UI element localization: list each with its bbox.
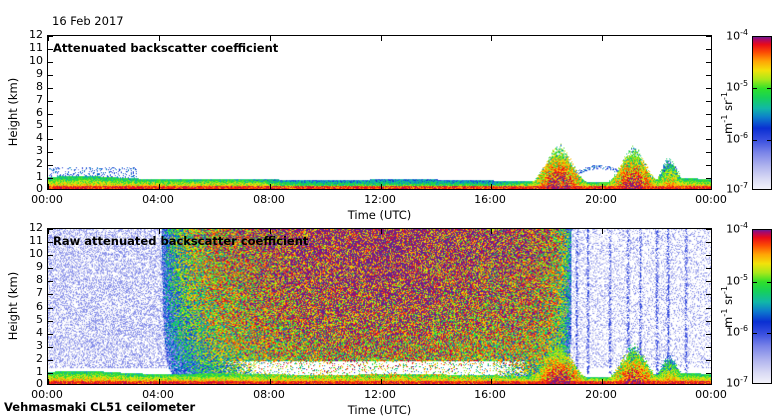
y-tick-label: 12 [21,28,43,41]
colorbar-tick [767,282,771,283]
y-tick-right [706,321,711,322]
x-tick-top [159,229,160,234]
colorbar-tick-label: 10-7 [714,181,748,196]
y-tick [48,347,53,348]
x-tick-top [159,36,160,41]
x-tick [48,379,49,384]
date-title: 16 Feb 2017 [52,14,124,28]
y-tick-right [706,294,711,295]
x-tick-label: 12:00 [350,193,410,206]
x-tick-label: 08:00 [239,193,299,206]
y-tick-label: 10 [21,247,43,260]
y-tick-right [706,178,711,179]
x-axis-title-panel1: Time (UTC) [280,208,480,222]
colorbar-tick-label: 10-4 [714,221,748,236]
y-tick-right [706,229,711,230]
y-tick-right [706,281,711,282]
x-tick-label: 16:00 [460,388,520,401]
colorbar-tick-label: 10-5 [714,79,748,94]
y-tick [48,281,53,282]
colorbar-tick [767,88,771,89]
x-tick [381,379,382,384]
x-tick [491,379,492,384]
y-tick [48,139,53,140]
colorbar-tick-label: 10-7 [714,375,748,390]
colorbar-tick-label: 10-4 [714,28,748,43]
x-tick-label: 20:00 [571,388,631,401]
y-tick [48,165,53,166]
y-tick [48,88,53,89]
y-tick [48,62,53,63]
x-tick-label: 16:00 [460,193,520,206]
y-tick-right [706,88,711,89]
y-tick-label: 7 [21,93,43,106]
x-tick-top [602,229,603,234]
x-tick-top [381,229,382,234]
y-tick-right [706,126,711,127]
x-tick [159,184,160,189]
x-tick-top [381,36,382,41]
panel-raw-backscatter [47,228,712,385]
y-tick-label: 1 [21,170,43,183]
y-tick-label: 5 [21,313,43,326]
y-tick-right [706,242,711,243]
y-tick-right [706,101,711,102]
y-tick-label: 2 [21,352,43,365]
y-tick [48,294,53,295]
y-tick [48,114,53,115]
y-tick [48,242,53,243]
y-tick-right [706,49,711,50]
x-tick-label: 00:00 [17,193,77,206]
y-tick-label: 11 [21,234,43,247]
y-tick-right [706,165,711,166]
y-tick-label: 3 [21,144,43,157]
y-tick-right [706,114,711,115]
attenuated-backscatter-heatmap [48,36,711,189]
y-tick-right [706,373,711,374]
y-tick-label: 2 [21,157,43,170]
x-tick-label: 00:00 [17,388,77,401]
y-tick-label: 5 [21,118,43,131]
colorbar-tick-label: 10-5 [714,273,748,288]
y-tick-label: 7 [21,286,43,299]
x-tick-top [48,229,49,234]
y-tick-label: 8 [21,273,43,286]
y-tick [48,178,53,179]
colorbar-tick [753,88,757,89]
colorbar-tick-label: 10-6 [714,324,748,339]
x-tick-label: 20:00 [571,193,631,206]
y-tick-label: 6 [21,106,43,119]
y-tick-right [706,36,711,37]
raw-backscatter-heatmap [48,229,711,384]
x-tick-label: 04:00 [128,193,188,206]
colorbar-gradient-2 [753,230,771,383]
x-tick-top [602,36,603,41]
y-tick-label: 1 [21,365,43,378]
y-tick-label: 10 [21,54,43,67]
y-tick-label: 4 [21,326,43,339]
y-tick-label: 3 [21,339,43,352]
x-tick-label: 00:00 [681,388,741,401]
x-tick [381,184,382,189]
y-tick [48,308,53,309]
y-tick-right [706,255,711,256]
y-axis-title-panel1: Height (km) [6,52,20,172]
x-tick [48,184,49,189]
y-axis-title-panel2: Height (km) [6,246,20,366]
y-tick-label: 9 [21,67,43,80]
y-tick-label: 8 [21,80,43,93]
y-tick [48,360,53,361]
instrument-footer: Vehmasmaki CL51 ceilometer [4,400,195,414]
y-tick-right [706,347,711,348]
colorbar-tick [753,333,757,334]
x-tick-top [270,36,271,41]
y-tick-label: 11 [21,41,43,54]
x-tick-label: 08:00 [239,388,299,401]
x-tick-top [491,229,492,234]
colorbar-tick [767,333,771,334]
x-tick-top [48,36,49,41]
y-tick [48,126,53,127]
x-tick [491,184,492,189]
figure-canvas: 16 Feb 2017 Attenuated backscatter coeff… [0,0,780,420]
y-tick [48,255,53,256]
y-tick-label: 9 [21,260,43,273]
x-tick-label: 12:00 [350,388,410,401]
colorbar-tick [767,140,771,141]
colorbar-tick-label: 10-6 [714,131,748,146]
x-tick-top [491,36,492,41]
y-tick-label: 12 [21,221,43,234]
y-tick [48,152,53,153]
colorbar-panel1 [752,36,772,190]
x-tick-top [270,229,271,234]
panel-attenuated-backscatter [47,35,712,190]
y-tick-right [706,62,711,63]
y-tick [48,373,53,374]
y-tick-right [706,268,711,269]
y-tick [48,321,53,322]
y-tick-right [706,308,711,309]
y-tick-right [706,75,711,76]
y-tick [48,334,53,335]
colorbar-gradient-1 [753,37,771,189]
y-tick-right [706,152,711,153]
x-tick [270,379,271,384]
y-tick-label: 6 [21,300,43,313]
x-axis-title-panel2: Time (UTC) [280,403,480,417]
colorbar-tick [753,140,757,141]
y-tick-right [706,139,711,140]
y-tick [48,75,53,76]
x-tick [602,379,603,384]
y-tick-right [706,360,711,361]
x-tick [270,184,271,189]
x-tick [602,184,603,189]
x-tick-label: 04:00 [128,388,188,401]
colorbar-tick [753,282,757,283]
x-tick [159,379,160,384]
y-tick-right [706,334,711,335]
y-tick [48,101,53,102]
y-tick [48,268,53,269]
y-tick-label: 4 [21,131,43,144]
colorbar-panel2 [752,229,772,384]
y-tick [48,49,53,50]
